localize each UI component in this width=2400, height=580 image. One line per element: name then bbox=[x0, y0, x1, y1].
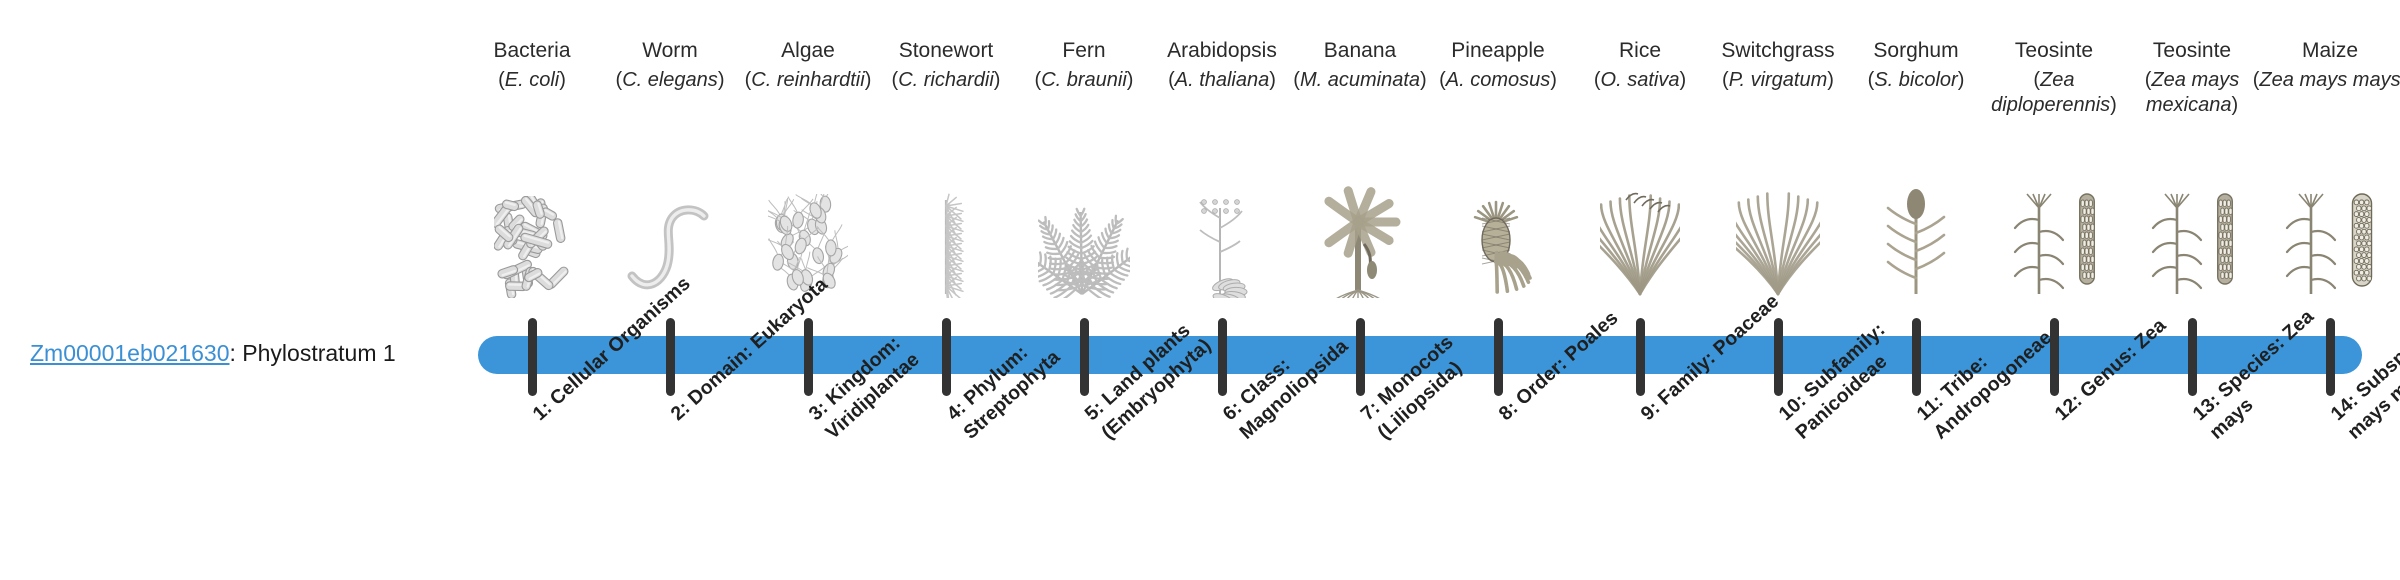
species-common-name: Pineapple bbox=[1418, 38, 1578, 64]
species-scientific-name: (S. bicolor) bbox=[1836, 68, 1996, 93]
species-scientific-name: (Zea diploperennis) bbox=[1974, 68, 2134, 118]
species-scientific-name: (C. richardii) bbox=[866, 68, 1026, 93]
phylostratum-tick[interactable] bbox=[666, 318, 675, 396]
species-scientific-name: (C. elegans) bbox=[590, 68, 750, 93]
species-common-name: Worm bbox=[590, 38, 750, 64]
species-common-name: Maize bbox=[2250, 38, 2400, 64]
species-common-name: Fern bbox=[1004, 38, 1164, 64]
species-common-name: Sorghum bbox=[1836, 38, 1996, 64]
species-scientific-name: (A. thaliana) bbox=[1142, 68, 1302, 93]
phylostratum-tick[interactable] bbox=[1912, 318, 1921, 396]
species-common-name: Teosinte bbox=[1974, 38, 2134, 64]
species-scientific-name: (Zea mays mexicana) bbox=[2112, 68, 2272, 118]
gene-row-label: Zm00001eb021630: Phylostratum 1 bbox=[30, 338, 460, 368]
phylostratum-tick[interactable] bbox=[942, 318, 951, 396]
phylostratum-tick[interactable] bbox=[1218, 318, 1227, 396]
species-scientific-name: (C. braunii) bbox=[1004, 68, 1164, 93]
species-scientific-name: (Zea mays mays) bbox=[2250, 68, 2400, 93]
species-common-name: Algae bbox=[728, 38, 888, 64]
species-common-name: Stonewort bbox=[866, 38, 1026, 64]
species-scientific-name: (M. acuminata) bbox=[1280, 68, 1440, 93]
species-scientific-name: (C. reinhardtii) bbox=[728, 68, 888, 93]
phylostratum-tick[interactable] bbox=[2188, 318, 2197, 396]
phylostratum-tick[interactable] bbox=[1080, 318, 1089, 396]
species-scientific-name: (P. virgatum) bbox=[1698, 68, 1858, 93]
species-scientific-name: (E. coli) bbox=[452, 68, 612, 93]
gene-phylostratum-text: Phylostratum 1 bbox=[242, 340, 395, 366]
species-common-name: Rice bbox=[1560, 38, 1720, 64]
species-common-name: Teosinte bbox=[2112, 38, 2272, 64]
phylostratigraphy-figure: Zm00001eb021630: Phylostratum 1 Bacteria… bbox=[0, 0, 2400, 580]
phylostratum-tick[interactable] bbox=[1356, 318, 1365, 396]
phylostratum-tick[interactable] bbox=[804, 318, 813, 396]
phylostratum-tick[interactable] bbox=[1636, 318, 1645, 396]
species-scientific-name: (O. sativa) bbox=[1560, 68, 1720, 93]
maize-illustration bbox=[2250, 168, 2400, 298]
species-common-name: Bacteria bbox=[452, 38, 612, 64]
bacteria-illustration bbox=[452, 168, 612, 298]
species-scientific-name: (A. comosus) bbox=[1418, 68, 1578, 93]
phylostratum-tick[interactable] bbox=[2326, 318, 2335, 396]
phylostratum-tick[interactable] bbox=[1774, 318, 1783, 396]
species-common-name: Arabidopsis bbox=[1142, 38, 1302, 64]
phylostratum-tick[interactable] bbox=[1494, 318, 1503, 396]
species-common-name: Switchgrass bbox=[1698, 38, 1858, 64]
gene-label-separator: : bbox=[230, 340, 243, 366]
gene-accession-link[interactable]: Zm00001eb021630 bbox=[30, 340, 230, 366]
phylostratum-tick[interactable] bbox=[2050, 318, 2059, 396]
species-common-name: Banana bbox=[1280, 38, 1440, 64]
phylostratum-tick[interactable] bbox=[528, 318, 537, 396]
